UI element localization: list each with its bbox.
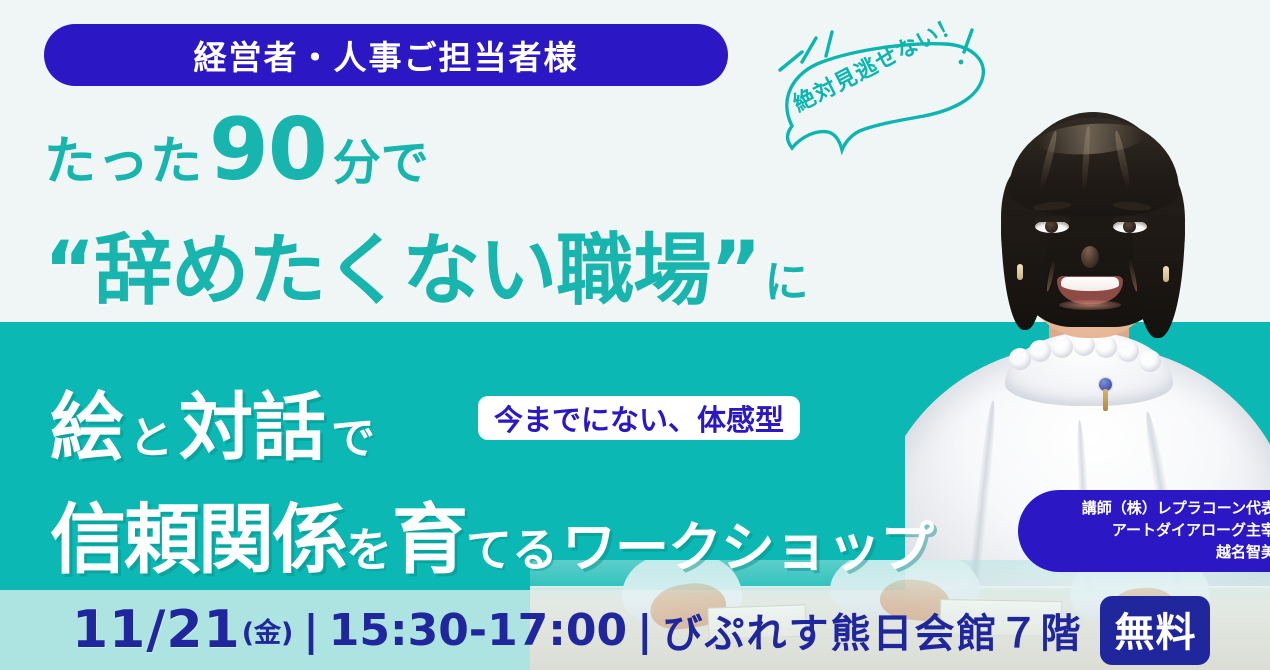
speed-line: [802, 38, 816, 62]
nose: [1081, 246, 1099, 268]
event-info-bar: 11/21 (金) | 15:30-17:00 | びぷれす熊日会館７階 無料: [0, 590, 1270, 670]
word-trust: 信頼関係: [50, 478, 346, 588]
earring-right: [1163, 266, 1169, 282]
collar-frill: [1029, 340, 1051, 362]
speaker-role-line: アートダイアローグ主宰: [1064, 520, 1270, 542]
word-dialogue: 対話: [179, 368, 325, 475]
speed-line: [826, 32, 832, 56]
particle-wo: を: [346, 514, 392, 580]
headline-particle-ni: に: [765, 246, 809, 310]
event-time: 15:30-17:00: [329, 605, 627, 656]
speaker-credential-badge: 講師（株）レプラコーン代表 アートダイアローグ主宰 越名智美: [1018, 490, 1270, 572]
experience-tag-label: 今までにない、体感型: [494, 397, 784, 439]
teeth: [1061, 277, 1119, 291]
headline-line-1: たった 90 分で: [44, 112, 429, 194]
speech-bubble: 絶対見逃せない！: [758, 18, 1008, 178]
lower-lip: [1059, 300, 1121, 310]
speaker-title-line: 講師（株）レプラコーン代表: [1064, 498, 1270, 520]
collar-frill: [1095, 336, 1117, 358]
brooch: [1097, 378, 1114, 412]
earring-left: [1017, 264, 1023, 280]
word-workshop: ワークショップ: [562, 503, 933, 582]
subheadline-line-2: 信頼関係 を 育 てる ワークショップ: [50, 478, 933, 588]
subheadline-line-1: 絵 と 対話 で: [50, 368, 381, 475]
headline-suffix: 分で: [333, 123, 429, 193]
collar-frill: [1117, 340, 1139, 362]
word-teru: てる: [466, 514, 558, 580]
info-separator-1: |: [303, 606, 318, 655]
word-grow: 育: [392, 478, 466, 588]
speed-line: [780, 52, 802, 70]
audience-pill: 経営者・人事ご担当者様: [44, 24, 728, 86]
brooch-tail: [1103, 389, 1108, 411]
promotional-banner: 経営者・人事ご担当者様 絶対見逃せない！ たった 90 分で “辞めたくない職場…: [0, 0, 1270, 670]
headline-quoted-phrase: “辞めたくない職場”: [44, 208, 761, 320]
event-date: 11/21: [72, 600, 241, 660]
speaker-name: 越名智美: [1064, 542, 1270, 564]
free-price-badge: 無料: [1100, 596, 1210, 665]
headline-prefix: たった: [44, 119, 203, 194]
particle-de: で: [331, 402, 375, 466]
collar-frill: [1009, 348, 1031, 370]
free-price-label: 無料: [1114, 600, 1196, 658]
collar-frill: [1139, 350, 1161, 372]
event-venue: びぷれす熊日会館７階: [662, 601, 1082, 659]
particle-to: と: [129, 402, 173, 466]
experience-tag-pill: 今までにない、体感型: [478, 396, 800, 440]
audience-pill-label: 経営者・人事ご担当者様: [194, 31, 579, 79]
info-separator-2: |: [637, 606, 652, 655]
word-art: 絵: [50, 368, 123, 475]
eyelid-right: [1112, 216, 1148, 222]
headline-line-2: “辞めたくない職場” に: [44, 208, 809, 320]
event-day-of-week: (金): [242, 611, 294, 650]
exclamation-dot: [959, 60, 964, 65]
headline-number-90: 90: [209, 112, 327, 189]
eyelid-left: [1034, 216, 1070, 222]
collar-frill: [1051, 336, 1073, 358]
